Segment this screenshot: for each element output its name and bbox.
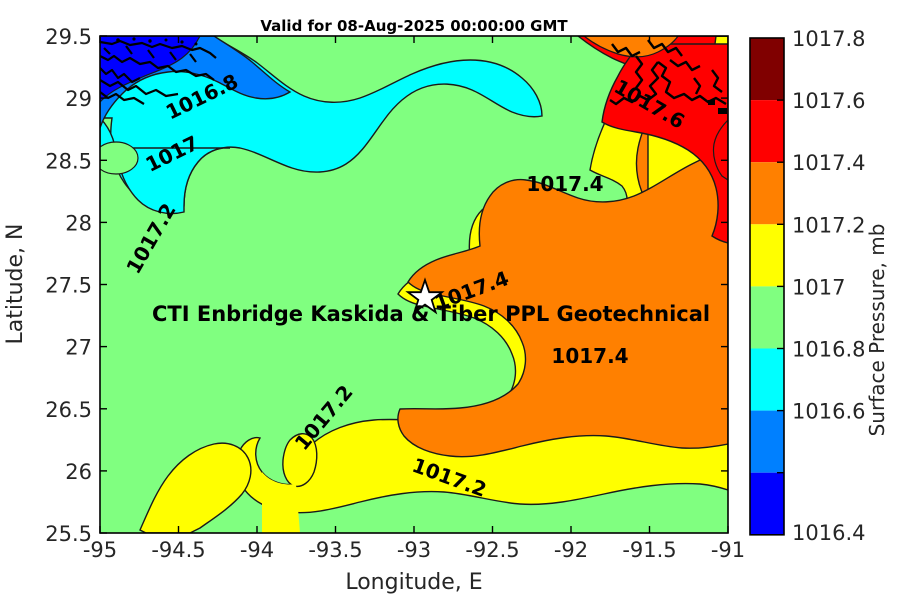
colorbar-swatch-1017p2	[750, 224, 784, 286]
colorbar-swatch-1017	[750, 286, 784, 348]
pressure-contour-figure: Valid for 08-Aug-2025 00:00:00 GMT -95 -…	[0, 0, 900, 600]
x-tick-label-1: -94.5	[151, 538, 205, 562]
colorbar-tick-label-1016p8: 1016.8	[792, 338, 865, 362]
site-label: CTI Enbridge Kaskida & Tiber PPL Geotech…	[152, 302, 710, 326]
colorbar-swatch-1017p6	[750, 100, 784, 162]
y-tick-label-3: 27	[65, 336, 92, 360]
x-tick-label-2: -94	[240, 538, 274, 562]
colorbar-swatch-1017p8	[750, 38, 784, 100]
colorbar-tick-label-1016p6: 1016.6	[792, 400, 865, 424]
colorbar-swatch-1016p6	[750, 411, 784, 473]
x-tick-label-7: -91.5	[622, 538, 676, 562]
x-tick-label-5: -92.5	[465, 538, 519, 562]
colorbar-tick-label-1017p4: 1017.4	[792, 151, 865, 175]
colorbar-title: Surface Pressure, mb	[865, 224, 889, 437]
y-tick-label-0: 25.5	[45, 522, 92, 546]
colorbar-tick-label-1017: 1017	[792, 275, 845, 299]
y-tick-label-5: 28	[65, 211, 92, 235]
y-tick-label-1: 26	[65, 460, 92, 484]
x-axis-label: Longitude, E	[345, 570, 482, 595]
y-tick-label-7: 29	[65, 87, 92, 111]
x-tick-label-3: -93.5	[308, 538, 362, 562]
colorbar-tick-label-1017p6: 1017.6	[792, 89, 865, 113]
colorbar-tick-label-1017p2: 1017.2	[792, 213, 865, 237]
colorbar-swatch-1017p4	[750, 162, 784, 224]
colorbar-tick-label-1016p4: 1016.4	[792, 521, 865, 545]
y-tick-label-4: 27.5	[45, 274, 92, 298]
x-tick-label-4: -93	[397, 538, 431, 562]
contour-label-1017p4-lower: 1017.4	[551, 344, 628, 368]
colorbar-swatch-1016p4	[750, 473, 784, 535]
y-tick-label-2: 26.5	[45, 398, 92, 422]
x-tick-label-8: -91	[711, 538, 745, 562]
y-tick-label-6: 28.5	[45, 149, 92, 173]
colorbar-tick-label-1017p8: 1017.8	[792, 27, 865, 51]
colorbar-swatch-1016p8	[750, 349, 784, 411]
y-tick-label-8: 29.5	[45, 25, 92, 49]
x-tick-label-6: -92	[554, 538, 588, 562]
chart-title: Valid for 08-Aug-2025 00:00:00 GMT	[260, 17, 568, 35]
y-axis-label: Latitude, N	[3, 224, 28, 345]
contour-label-1017p4-upper: 1017.4	[526, 172, 603, 196]
